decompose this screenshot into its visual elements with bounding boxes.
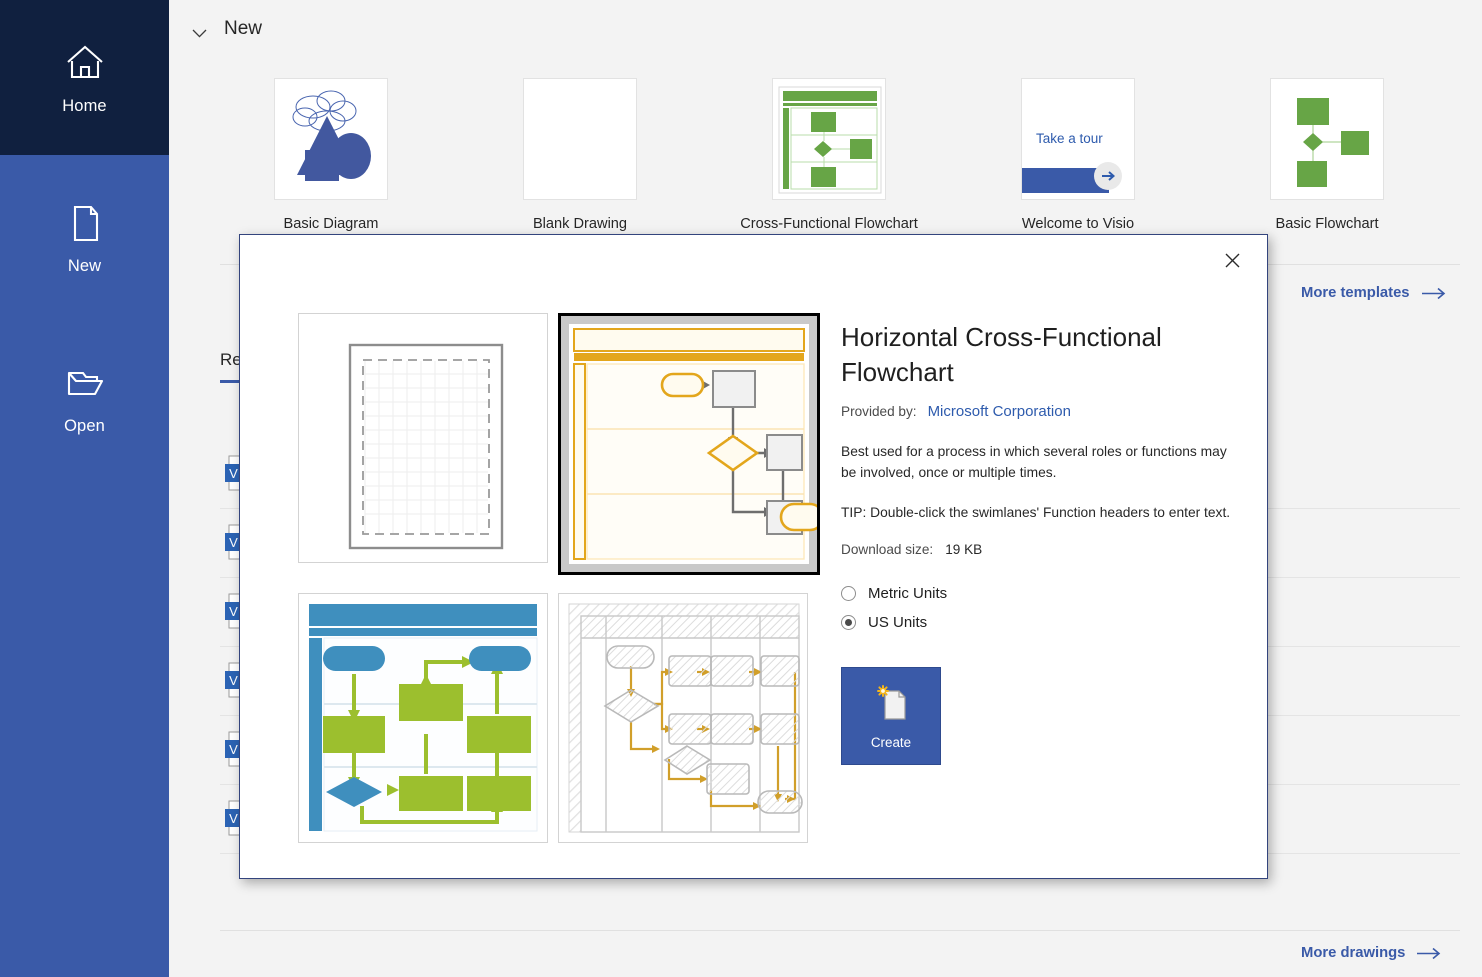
template-label-welcome: Welcome to Visio bbox=[968, 216, 1188, 232]
preview-orange-swimlane[interactable] bbox=[558, 313, 820, 575]
svg-text:V: V bbox=[229, 466, 238, 481]
more-drawings-label: More drawings bbox=[1301, 945, 1405, 961]
template-label-basic-diagram: Basic Diagram bbox=[221, 216, 441, 232]
close-button[interactable] bbox=[1211, 241, 1254, 280]
template-tip: TIP: Double-click the swimlanes' Functio… bbox=[841, 505, 1241, 520]
new-document-star-icon bbox=[869, 683, 913, 728]
template-thumbnail-cross-functional bbox=[772, 78, 886, 200]
new-section-title: New bbox=[224, 18, 262, 40]
download-size-value: 19 KB bbox=[945, 542, 982, 557]
sidebar-item-label-home: Home bbox=[62, 97, 106, 116]
svg-text:V: V bbox=[229, 604, 238, 619]
close-icon bbox=[1224, 252, 1241, 269]
template-card-basic-flowchart[interactable]: Basic Flowchart bbox=[1217, 78, 1437, 232]
sidebar-item-new[interactable]: New bbox=[0, 190, 169, 285]
units-radio-group: Metric Units US Units bbox=[841, 579, 1241, 637]
sidebar-item-label-open: Open bbox=[64, 417, 105, 436]
new-document-icon bbox=[62, 200, 108, 246]
template-thumbnail-basic-flowchart bbox=[1270, 78, 1384, 200]
template-label-basic-flowchart: Basic Flowchart bbox=[1217, 216, 1437, 232]
open-folder-icon bbox=[62, 360, 108, 406]
new-section-header[interactable]: New bbox=[192, 18, 262, 40]
template-card-blank-drawing[interactable]: Blank Drawing bbox=[470, 78, 690, 232]
left-rail: Home New Open bbox=[0, 0, 169, 977]
template-card-basic-diagram[interactable]: Basic Diagram bbox=[221, 78, 441, 232]
home-icon bbox=[62, 40, 108, 86]
preview-hatched-swimlane[interactable] bbox=[558, 593, 808, 843]
more-drawings-link[interactable]: More drawings bbox=[1301, 945, 1441, 961]
radio-dot-us bbox=[841, 615, 856, 630]
radio-label-us: US Units bbox=[868, 614, 927, 631]
preview-thumbnails bbox=[269, 313, 831, 848]
provider-name: Microsoft Corporation bbox=[928, 403, 1071, 420]
provided-by-row: Provided by: Microsoft Corporation bbox=[841, 403, 1241, 420]
template-card-welcome-to-visio[interactable]: Take a tour Welcome to Visio bbox=[968, 78, 1188, 232]
create-button-label: Create bbox=[871, 735, 911, 750]
provided-by-label: Provided by: bbox=[841, 404, 917, 419]
svg-text:V: V bbox=[229, 742, 238, 757]
take-a-tour-label: Take a tour bbox=[1036, 131, 1103, 146]
radio-dot-metric bbox=[841, 586, 856, 601]
sidebar-item-open[interactable]: Open bbox=[0, 350, 169, 445]
template-thumbnail-basic-diagram bbox=[274, 78, 388, 200]
template-detail-pane: Horizontal Cross-Functional Flowchart Pr… bbox=[841, 320, 1241, 765]
svg-text:V: V bbox=[229, 535, 238, 550]
preview-blue-green-swimlane[interactable] bbox=[298, 593, 548, 843]
svg-text:V: V bbox=[229, 673, 238, 688]
template-description: Best used for a process in which several… bbox=[841, 442, 1241, 484]
sidebar-item-label-new: New bbox=[68, 257, 101, 276]
download-size-label: Download size: bbox=[841, 542, 933, 557]
template-thumbnail-blank-drawing bbox=[523, 78, 637, 200]
radio-metric-units[interactable]: Metric Units bbox=[841, 579, 1241, 608]
template-gallery: Basic Diagram Blank Drawing bbox=[169, 78, 1482, 238]
template-label-cross-functional: Cross-Functional Flowchart bbox=[719, 216, 939, 232]
arrow-right-icon bbox=[1421, 287, 1446, 300]
radio-us-units[interactable]: US Units bbox=[841, 608, 1241, 637]
sidebar-item-home[interactable]: Home bbox=[0, 30, 169, 125]
template-thumbnail-welcome-tour: Take a tour bbox=[1021, 78, 1135, 200]
template-detail-dialog: Horizontal Cross-Functional Flowchart Pr… bbox=[239, 234, 1268, 879]
template-label-blank-drawing: Blank Drawing bbox=[470, 216, 690, 232]
more-templates-link[interactable]: More templates bbox=[1301, 285, 1446, 301]
preview-blank-page[interactable] bbox=[298, 313, 548, 563]
chevron-down-icon bbox=[192, 25, 207, 34]
template-detail-title: Horizontal Cross-Functional Flowchart bbox=[841, 320, 1241, 390]
tour-arrow-icon bbox=[1092, 160, 1124, 197]
more-templates-label: More templates bbox=[1301, 285, 1410, 301]
arrow-right-icon bbox=[1416, 947, 1441, 960]
download-size-row: Download size: 19 KB bbox=[841, 542, 1241, 557]
template-card-cross-functional-flowchart[interactable]: Cross-Functional Flowchart bbox=[719, 78, 939, 232]
section-divider-bottom bbox=[220, 930, 1460, 931]
svg-text:V: V bbox=[229, 811, 238, 826]
create-button[interactable]: Create bbox=[841, 667, 941, 765]
radio-label-metric: Metric Units bbox=[868, 585, 947, 602]
